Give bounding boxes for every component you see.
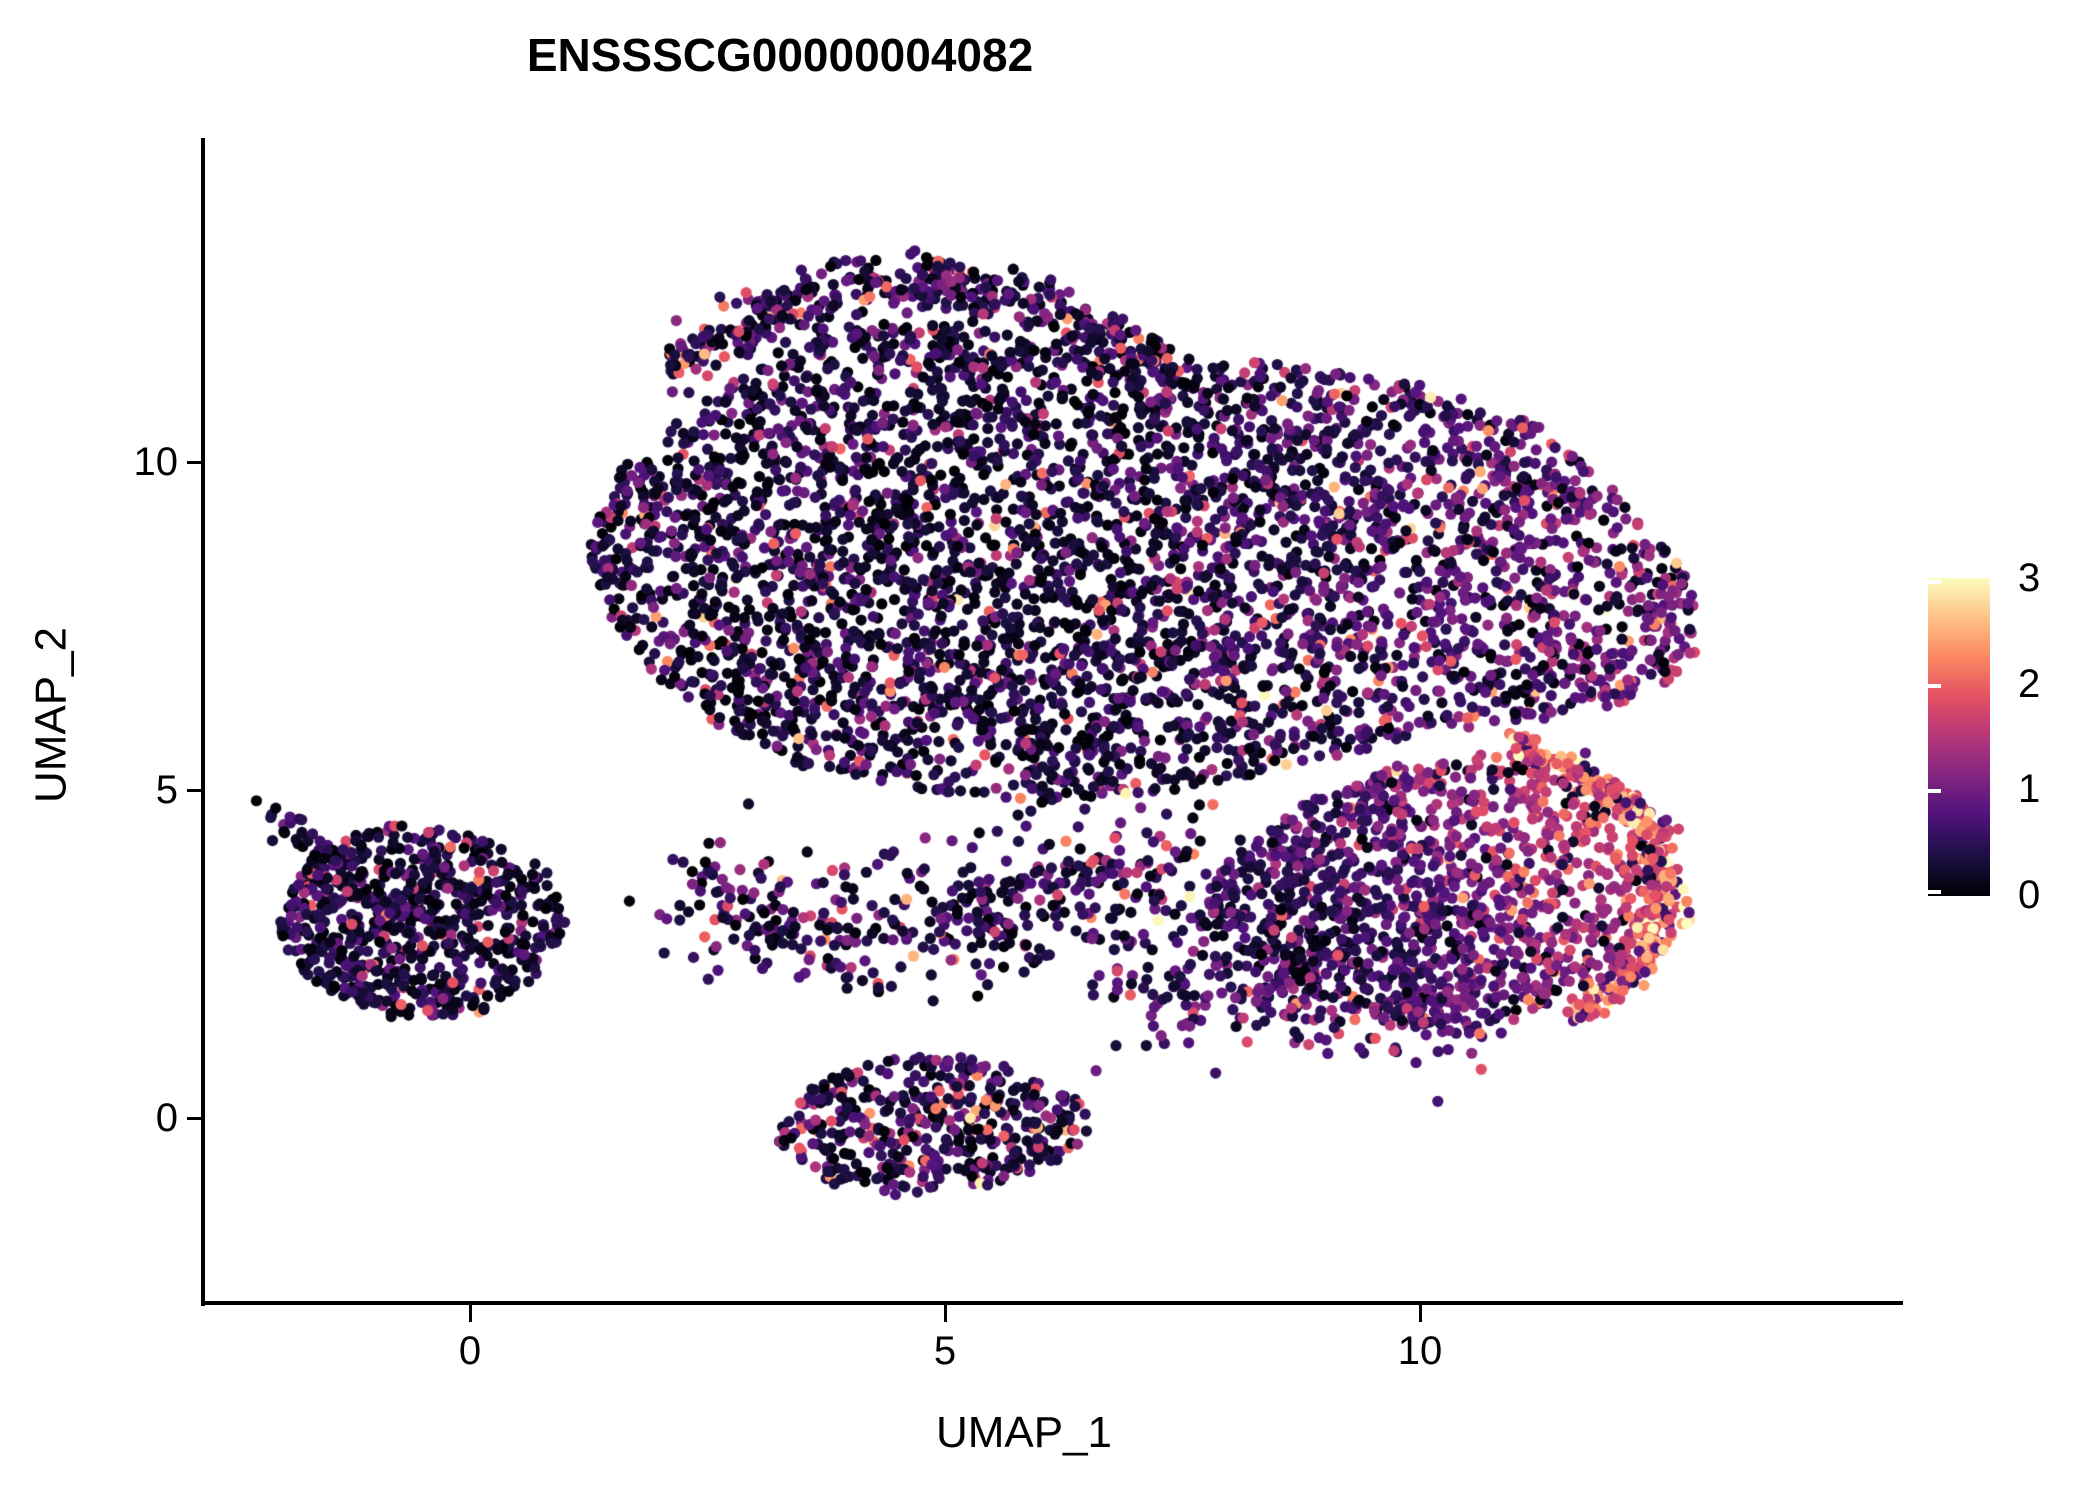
y-tick-mark <box>187 789 204 792</box>
colorbar-tick-mark <box>1928 789 1941 793</box>
umap-feature-plot: ENSSSCG00000004082 1050 0510 UMAP_1 UMAP… <box>0 0 2100 1500</box>
colorbar-tick-label: 1 <box>2018 769 2040 809</box>
y-tick-label: 5 <box>156 770 178 810</box>
x-tick-label: 10 <box>1398 1331 1443 1371</box>
colorbar-tick-mark <box>1928 580 1941 584</box>
colorbar-tick-label: 0 <box>2018 875 2040 915</box>
x-tick-mark <box>944 1305 947 1322</box>
y-tick-mark <box>187 461 204 464</box>
x-axis-title: UMAP_1 <box>204 1408 1844 1458</box>
colorbar-tick-label: 3 <box>2018 558 2040 598</box>
x-tick-mark <box>469 1305 472 1322</box>
colorbar-tick-mark <box>1928 684 1941 688</box>
colorbar-tick-mark <box>2065 684 2078 688</box>
colorbar-tick-mark <box>1928 890 1941 894</box>
y-tick-label: 10 <box>134 442 179 482</box>
colorbar-gradient <box>1928 578 1990 896</box>
colorbar-tick-mark <box>2065 789 2078 793</box>
color-legend: 3210 <box>1928 578 2078 896</box>
x-tick-label: 0 <box>459 1331 481 1371</box>
colorbar-tick-mark <box>2065 580 2078 584</box>
y-axis-title: UMAP_2 <box>27 134 77 1297</box>
x-axis-ticks: 0510 <box>0 1305 2100 1425</box>
colorbar-tick-mark <box>2065 890 2078 894</box>
y-tick-label: 0 <box>156 1098 178 1138</box>
page-title: ENSSSCG00000004082 <box>0 28 1560 82</box>
x-tick-mark <box>1419 1305 1422 1322</box>
y-tick-mark <box>187 1117 204 1120</box>
plot-panel <box>204 140 1900 1303</box>
colorbar-tick-label: 2 <box>2018 664 2040 704</box>
x-tick-label: 5 <box>934 1331 956 1371</box>
scatter-points <box>204 140 1900 1303</box>
